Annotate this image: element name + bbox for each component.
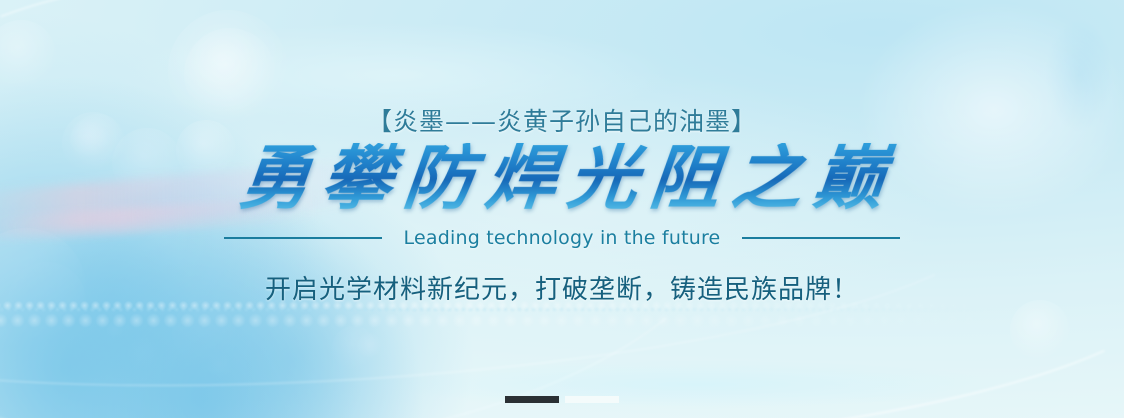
banner-content: 【炎墨——炎黄子孙自己的油墨】 勇攀防焊光阻之巅 Leading technol… [0,0,1124,418]
banner-tagline: Leading technology in the future [382,227,743,249]
banner-subline: 开启光学材料新纪元，打破垄断，铸造民族品牌！ [265,275,859,306]
rule-left [224,237,382,239]
carousel-dot-2[interactable] [565,396,619,403]
carousel-dot-1[interactable] [505,396,559,403]
banner-eyebrow: 【炎墨——炎黄子孙自己的油墨】 [367,107,757,137]
hero-banner: 【炎墨——炎黄子孙自己的油墨】 勇攀防焊光阻之巅 Leading technol… [0,0,1124,418]
carousel-indicators [0,396,1124,403]
tagline-row: Leading technology in the future [224,227,901,249]
banner-headline: 勇攀防焊光阻之巅 [224,143,899,213]
rule-right [742,237,900,239]
